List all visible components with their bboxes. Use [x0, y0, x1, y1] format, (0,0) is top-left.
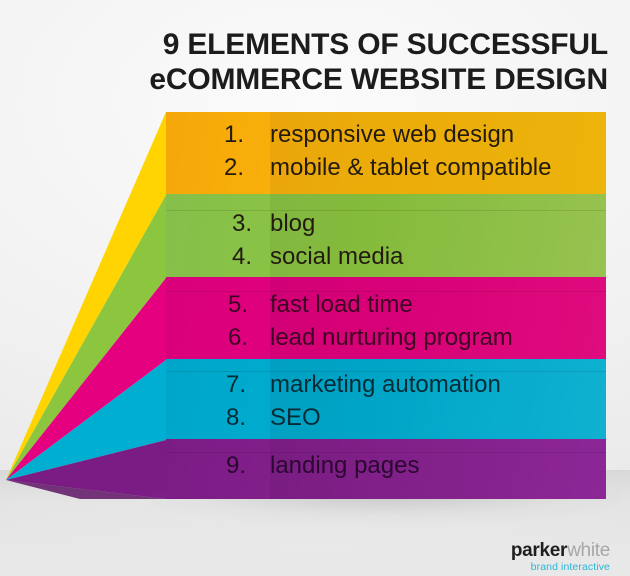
item-label: social media — [270, 243, 403, 271]
band-divider — [166, 371, 606, 372]
band-orange-rows: 1. responsive web design 2. mobile & tab… — [166, 121, 606, 187]
logo-wordmark: parkerwhite — [511, 540, 610, 561]
band-cyan: 7. marketing automation 8. SEO — [166, 359, 606, 439]
item-number: 1. — [166, 121, 270, 149]
item-label: SEO — [270, 404, 321, 432]
band-divider — [166, 452, 606, 453]
item-label: blog — [270, 210, 315, 238]
list-item: 6. lead nurturing program — [166, 324, 606, 357]
band-cyan-rows: 7. marketing automation 8. SEO — [166, 371, 606, 437]
title-line-2: eCOMMERCE WEBSITE DESIGN — [60, 62, 608, 97]
page-title: 9 ELEMENTS OF SUCCESSFUL eCOMMERCE WEBSI… — [60, 27, 608, 97]
item-number: 2. — [166, 154, 270, 182]
band-purple: 9. landing pages — [166, 439, 606, 499]
band-purple-rows: 9. landing pages — [166, 452, 606, 485]
title-line-1: 9 ELEMENTS OF SUCCESSFUL — [60, 27, 608, 62]
item-label: landing pages — [270, 452, 419, 480]
list-item: 3. blog — [166, 210, 606, 243]
band-orange: 1. responsive web design 2. mobile & tab… — [166, 112, 606, 194]
band-green: 3. blog 4. social media — [166, 194, 606, 277]
item-number: 3. — [166, 210, 270, 238]
list-item: 1. responsive web design — [166, 121, 606, 154]
logo-primary: parker — [511, 540, 567, 561]
logo-tagline: brand interactive — [498, 562, 610, 573]
list-item: 8. SEO — [166, 404, 606, 437]
list-item: 5. fast load time — [166, 291, 606, 324]
list-item: 4. social media — [166, 243, 606, 276]
list-item: 2. mobile & tablet compatible — [166, 154, 606, 187]
item-number: 8. — [166, 404, 270, 432]
band-magenta-rows: 5. fast load time 6. lead nurturing prog… — [166, 291, 606, 357]
item-number: 4. — [166, 243, 270, 271]
wedge-purple-underside — [6, 480, 166, 499]
item-label: mobile & tablet compatible — [270, 154, 551, 182]
item-number: 5. — [166, 291, 270, 319]
list-item: 7. marketing automation — [166, 371, 606, 404]
item-number: 9. — [166, 452, 270, 480]
band-green-rows: 3. blog 4. social media — [166, 210, 606, 276]
wedge-purple — [6, 440, 166, 499]
elements-panel: 1. responsive web design 2. mobile & tab… — [166, 112, 606, 499]
band-divider — [166, 291, 606, 292]
wedge-green — [6, 195, 166, 480]
parkerwhite-logo: parkerwhite brand interactive — [498, 541, 610, 573]
item-number: 7. — [166, 371, 270, 399]
item-label: responsive web design — [270, 121, 514, 149]
band-divider — [166, 210, 606, 211]
item-label: fast load time — [270, 291, 413, 319]
infographic-canvas: 9 ELEMENTS OF SUCCESSFUL eCOMMERCE WEBSI… — [0, 0, 630, 576]
wedge-magenta — [6, 278, 166, 480]
band-magenta: 5. fast load time 6. lead nurturing prog… — [166, 277, 606, 359]
wedge-yellow — [6, 112, 166, 480]
item-number: 6. — [166, 324, 270, 352]
wedge-cyan — [6, 360, 166, 480]
item-label: lead nurturing program — [270, 324, 513, 352]
list-item: 9. landing pages — [166, 452, 606, 485]
item-label: marketing automation — [270, 371, 501, 399]
logo-secondary: white — [567, 540, 610, 561]
